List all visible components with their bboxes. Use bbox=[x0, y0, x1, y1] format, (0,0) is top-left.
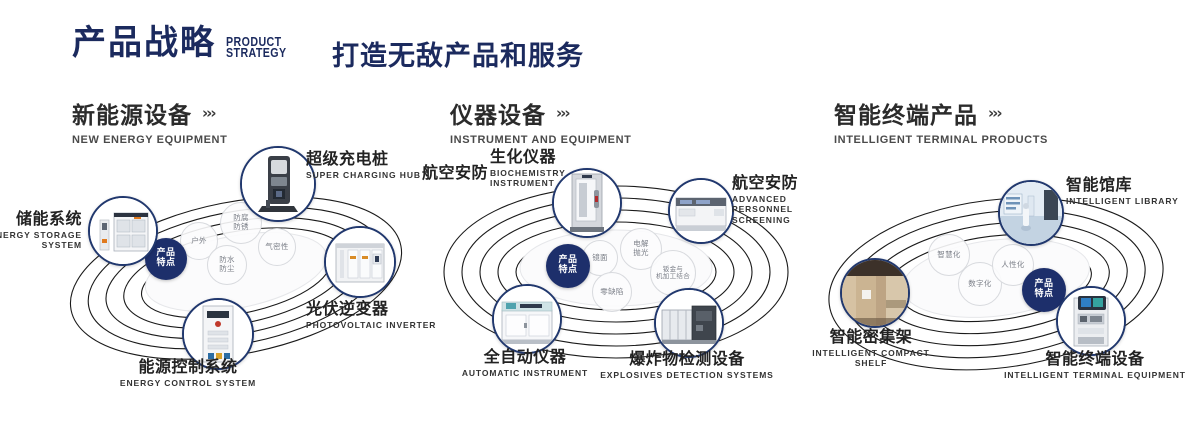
explosives-detector-icon bbox=[656, 290, 722, 356]
section-title-cn: 仪器设备 ››› bbox=[450, 96, 631, 130]
feature-bubble: 零缺陷 bbox=[592, 272, 632, 312]
node-label-energy-control: 能源控制系统 ENERGY CONTROL SYSTEM bbox=[78, 358, 298, 388]
feature-bubble: 气密性 bbox=[258, 228, 296, 266]
cluster-new-energy: 户外 防腐 防锈 防水 防尘 气密性 产品 特点 bbox=[40, 150, 440, 400]
smart-library-icon bbox=[1000, 182, 1062, 244]
section-header-intelligent: 智能终端产品 ››› INTELLIGENT TERMINAL PRODUCTS bbox=[834, 96, 1048, 146]
page-title-cn: 产品战略 bbox=[72, 26, 216, 60]
chevron-right-icon: ››› bbox=[556, 104, 569, 122]
node-automatic-instrument[interactable] bbox=[492, 284, 562, 354]
compact-shelf-icon bbox=[842, 260, 908, 326]
section-title-cn: 新能源设备 ››› bbox=[72, 96, 227, 130]
node-charging-hub[interactable] bbox=[240, 146, 316, 222]
pv-inverter-icon bbox=[326, 228, 394, 296]
chevron-right-icon: ››› bbox=[202, 104, 215, 122]
self-service-kiosk-icon bbox=[1058, 288, 1124, 354]
page-subtitle: 打造无敌产品和服务 bbox=[332, 34, 584, 73]
node-label-pv-inverter: 光伏逆变器 PHOTOVOLTAIC INVERTER bbox=[306, 300, 436, 330]
energy-storage-cabinet-icon bbox=[90, 198, 156, 264]
charging-pile-icon bbox=[242, 148, 314, 220]
node-personnel-screening[interactable] bbox=[668, 178, 734, 244]
node-label-aviation-security-left: 航空安防 bbox=[390, 164, 488, 184]
cluster-intelligent-terminal: 智慧化 数字化 人性化 产品 特点 bbox=[800, 150, 1200, 400]
product-feature-badge: 产品 特点 bbox=[546, 244, 590, 288]
node-pv-inverter[interactable] bbox=[324, 226, 396, 298]
feature-badge-line2: 特点 bbox=[156, 259, 175, 269]
cluster-instrument: 镜面 电解 抛光 钣金与 机加工结合 零缺陷 产品 特点 bbox=[420, 150, 820, 400]
node-explosives-detection[interactable] bbox=[654, 288, 724, 358]
node-energy-storage[interactable] bbox=[88, 196, 158, 266]
node-compact-shelf[interactable] bbox=[840, 258, 910, 328]
section-header-new-energy: 新能源设备 ››› NEW ENERGY EQUIPMENT bbox=[72, 96, 227, 146]
node-label-terminal-equipment: 智能终端设备 INTELLIGENT TERMINAL EQUIPMENT bbox=[990, 350, 1200, 380]
chevron-right-icon: ››› bbox=[988, 104, 1001, 122]
node-label-energy-storage: 储能系统 ENERGY STORAGE SYSTEM bbox=[0, 210, 82, 251]
node-label-biochemistry: 生化仪器 BIOCHEMISTRY INSTRUMENT bbox=[490, 148, 566, 189]
node-smart-library[interactable] bbox=[998, 180, 1064, 246]
page-title-en: PRODUCT STRATEGY bbox=[226, 36, 287, 58]
section-title-en: INTELLIGENT TERMINAL PRODUCTS bbox=[834, 134, 1048, 146]
screening-machine-icon bbox=[670, 180, 732, 242]
section-title-text: 仪器设备 bbox=[450, 96, 546, 130]
section-title-en: INSTRUMENT AND EQUIPMENT bbox=[450, 134, 631, 146]
feature-badge-line2: 特点 bbox=[558, 266, 577, 276]
feature-badge-line2: 特点 bbox=[1034, 290, 1053, 300]
section-title-text: 新能源设备 bbox=[72, 96, 192, 130]
node-terminal-equipment[interactable] bbox=[1056, 286, 1126, 356]
node-label-smart-library: 智能馆库 INTELLIGENT LIBRARY bbox=[1066, 176, 1179, 206]
page-title: 产品战略 PRODUCT STRATEGY bbox=[72, 26, 300, 60]
section-title-text: 智能终端产品 bbox=[834, 96, 978, 130]
product-strategy-infographic: 产品战略 PRODUCT STRATEGY 打造无敌产品和服务 新能源设备 ››… bbox=[0, 0, 1200, 422]
section-title-en: NEW ENERGY EQUIPMENT bbox=[72, 134, 227, 146]
node-label-compact-shelf: 智能密集架 INTELLIGENT COMPACT SHELF bbox=[776, 328, 966, 369]
section-title-cn: 智能终端产品 ››› bbox=[834, 96, 1048, 130]
feature-bubble: 防水 防尘 bbox=[207, 245, 247, 285]
page-title-en-line2: STRATEGY bbox=[226, 47, 287, 58]
section-header-instrument: 仪器设备 ››› INSTRUMENT AND EQUIPMENT bbox=[450, 96, 631, 146]
node-label-explosives-detection: 爆炸物检测设备 EXPLOSIVES DETECTION SYSTEMS bbox=[592, 350, 782, 380]
automatic-analyzer-icon bbox=[494, 286, 560, 352]
